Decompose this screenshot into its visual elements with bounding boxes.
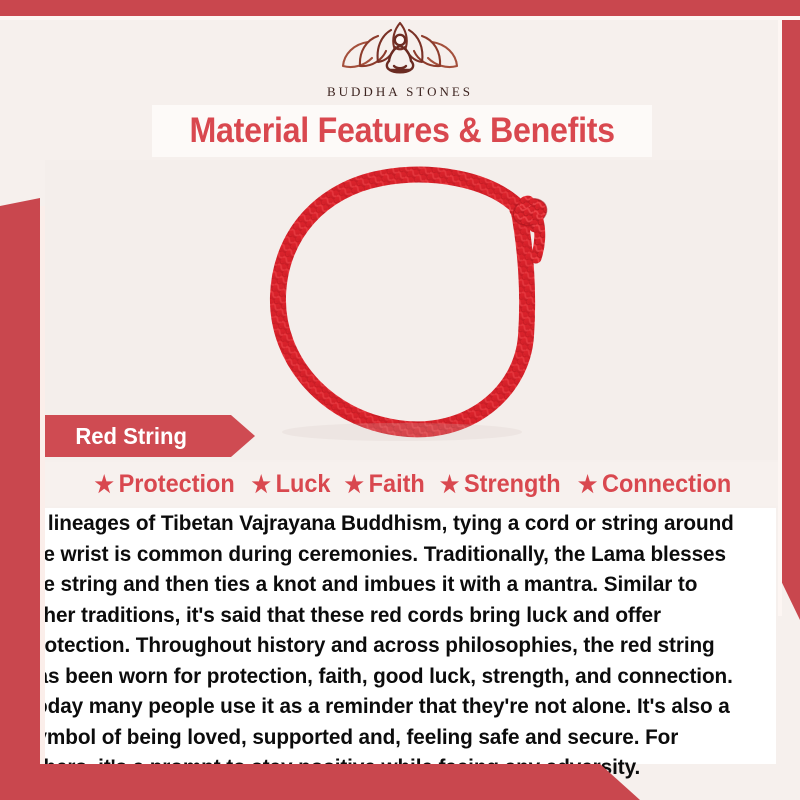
description-text: In lineages of Tibetan Vajrayana Buddhis… (24, 508, 750, 783)
title-banner: Material Features & Benefits (152, 105, 652, 157)
benefit-item-connection: ★ Connection (578, 470, 731, 499)
frame-bottom-bar (0, 764, 640, 800)
frame-right-bar (782, 0, 800, 620)
frame-top-bar (0, 0, 800, 16)
star-icon: ★ (251, 473, 270, 496)
benefit-label: Faith (368, 470, 424, 499)
benefit-item-luck: ★ Luck (251, 470, 330, 499)
star-icon: ★ (95, 473, 114, 496)
red-string-bracelet-image (230, 160, 590, 450)
description-block: In lineages of Tibetan Vajrayana Buddhis… (24, 508, 776, 764)
benefit-label: Strength (464, 470, 561, 499)
benefit-label: Connection (602, 470, 731, 499)
benefit-item-faith: ★ Faith (344, 470, 424, 499)
benefit-item-strength: ★ Strength (440, 470, 561, 499)
page-title: Material Features & Benefits (189, 111, 614, 151)
brand-name: BUDDHA STONES (327, 84, 473, 100)
product-label-banner: Red String (45, 415, 255, 457)
frame-left-inner-line (40, 206, 45, 800)
benefit-label: Protection (119, 470, 235, 499)
star-icon: ★ (578, 473, 597, 496)
star-icon: ★ (344, 473, 363, 496)
lotus-meditation-icon (334, 20, 466, 82)
infographic-page: BUDDHA STONES Material Features & Benefi… (0, 0, 800, 800)
frame-top-inner-line (0, 16, 800, 20)
product-label: Red String (75, 423, 187, 450)
star-icon: ★ (440, 473, 459, 496)
brand-header: BUDDHA STONES (0, 20, 800, 110)
frame-right-inner-line (778, 16, 782, 616)
benefit-item-protection: ★ Protection (95, 470, 235, 499)
benefits-list: ★ Protection ★ Luck ★ Faith ★ Strength ★… (45, 462, 782, 506)
frame-left-bar (0, 198, 40, 800)
benefit-label: Luck (275, 470, 330, 499)
